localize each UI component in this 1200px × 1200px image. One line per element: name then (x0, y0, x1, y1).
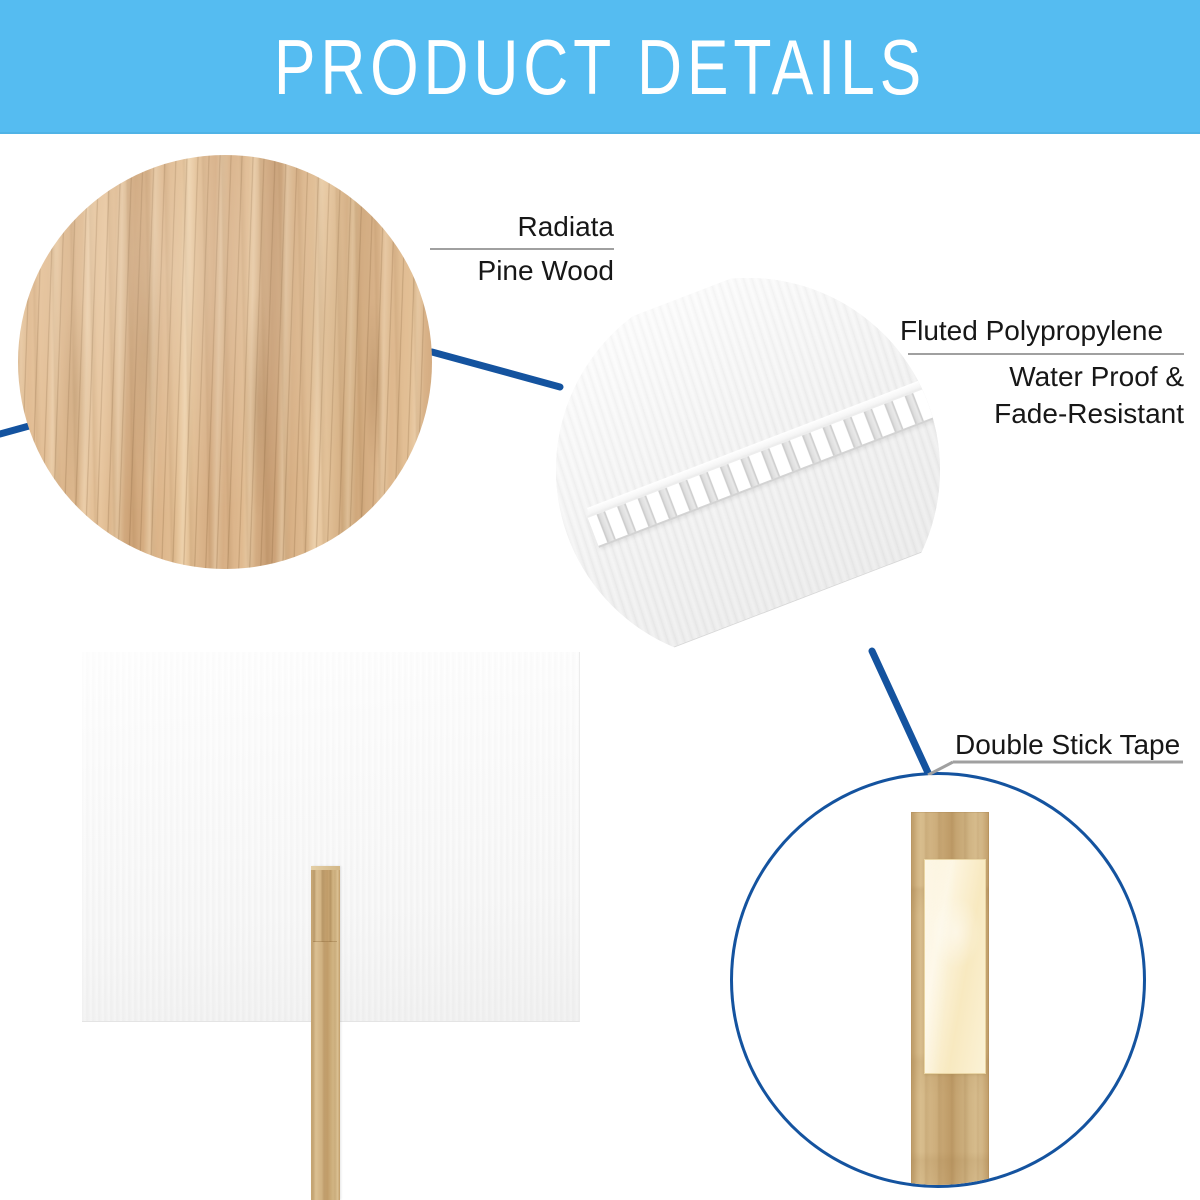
wood-stake-top-edge (311, 866, 340, 870)
fluted-sheet-bubble (556, 278, 940, 662)
callout-subheading: Pine Wood (404, 252, 614, 289)
callout-double-stick-tape: Double Stick Tape (955, 726, 1183, 763)
tape-strip (924, 859, 986, 1074)
callout-divider (908, 353, 1184, 355)
tape-strip-sheen (925, 860, 985, 1073)
callout-divider (430, 248, 614, 250)
product-details-infographic: PRODUCT DETAILS (0, 0, 1200, 1200)
callout-fluted-polypropylene: Fluted Polypropylene Water Proof & Fade-… (900, 312, 1184, 432)
callout-heading: Radiata (404, 208, 614, 245)
wood-grain-bubble (18, 155, 432, 569)
tape-bubble (733, 775, 1143, 1185)
callout-subheading-line-1: Water Proof & (900, 358, 1184, 395)
callout-subheading-line-2: Fade-Resistant (900, 395, 1184, 432)
wood-stake-grain-notch (313, 868, 337, 942)
callout-radiata-pine-wood: Radiata Pine Wood (404, 208, 614, 289)
callout-heading: Double Stick Tape (955, 726, 1183, 763)
wood-grain-highlight (18, 155, 432, 569)
callout-heading: Fluted Polypropylene (900, 312, 1184, 349)
